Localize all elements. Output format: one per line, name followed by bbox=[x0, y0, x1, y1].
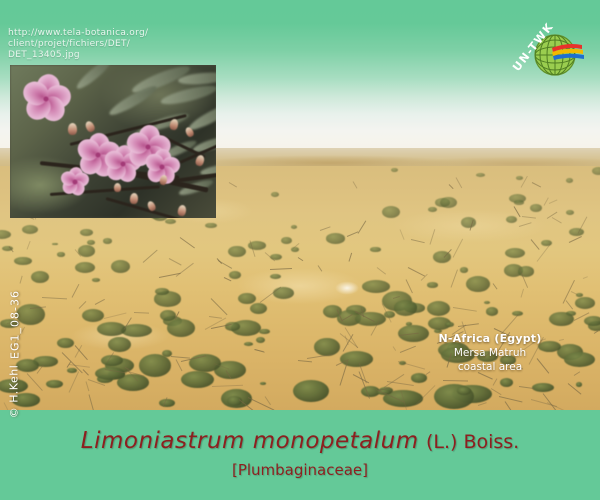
locality-block: N-Africa (Egypt) Mersa Matruh coastal ar… bbox=[390, 332, 590, 374]
logo-stripes bbox=[552, 44, 584, 60]
caption-band: Limoniastrum monopetalum (L.) Boiss. [Pl… bbox=[0, 410, 600, 500]
locality-place: Mersa Matruh bbox=[390, 346, 590, 360]
source-url-text: http://www.tela-botanica.org/ client/pro… bbox=[8, 28, 148, 61]
un-twk-logo: UN-TWK bbox=[512, 22, 588, 84]
species-authority: (L.) Boiss. bbox=[426, 431, 519, 453]
globe-icon: UN-TWK bbox=[512, 22, 588, 84]
image-plate: http://www.tela-botanica.org/ client/pro… bbox=[0, 0, 600, 500]
species-name: Limoniastrum monopetalum bbox=[81, 428, 419, 454]
inset-flower-photo bbox=[10, 65, 216, 218]
scientific-name-line: Limoniastrum monopetalum (L.) Boiss. bbox=[0, 428, 600, 455]
copyright-text: © H.Kehl bbox=[8, 354, 21, 430]
locality-region: N-Africa (Egypt) bbox=[390, 332, 590, 346]
family-name: [Plumbaginaceae] bbox=[0, 462, 600, 479]
locality-habitat: coastal area bbox=[390, 360, 590, 374]
